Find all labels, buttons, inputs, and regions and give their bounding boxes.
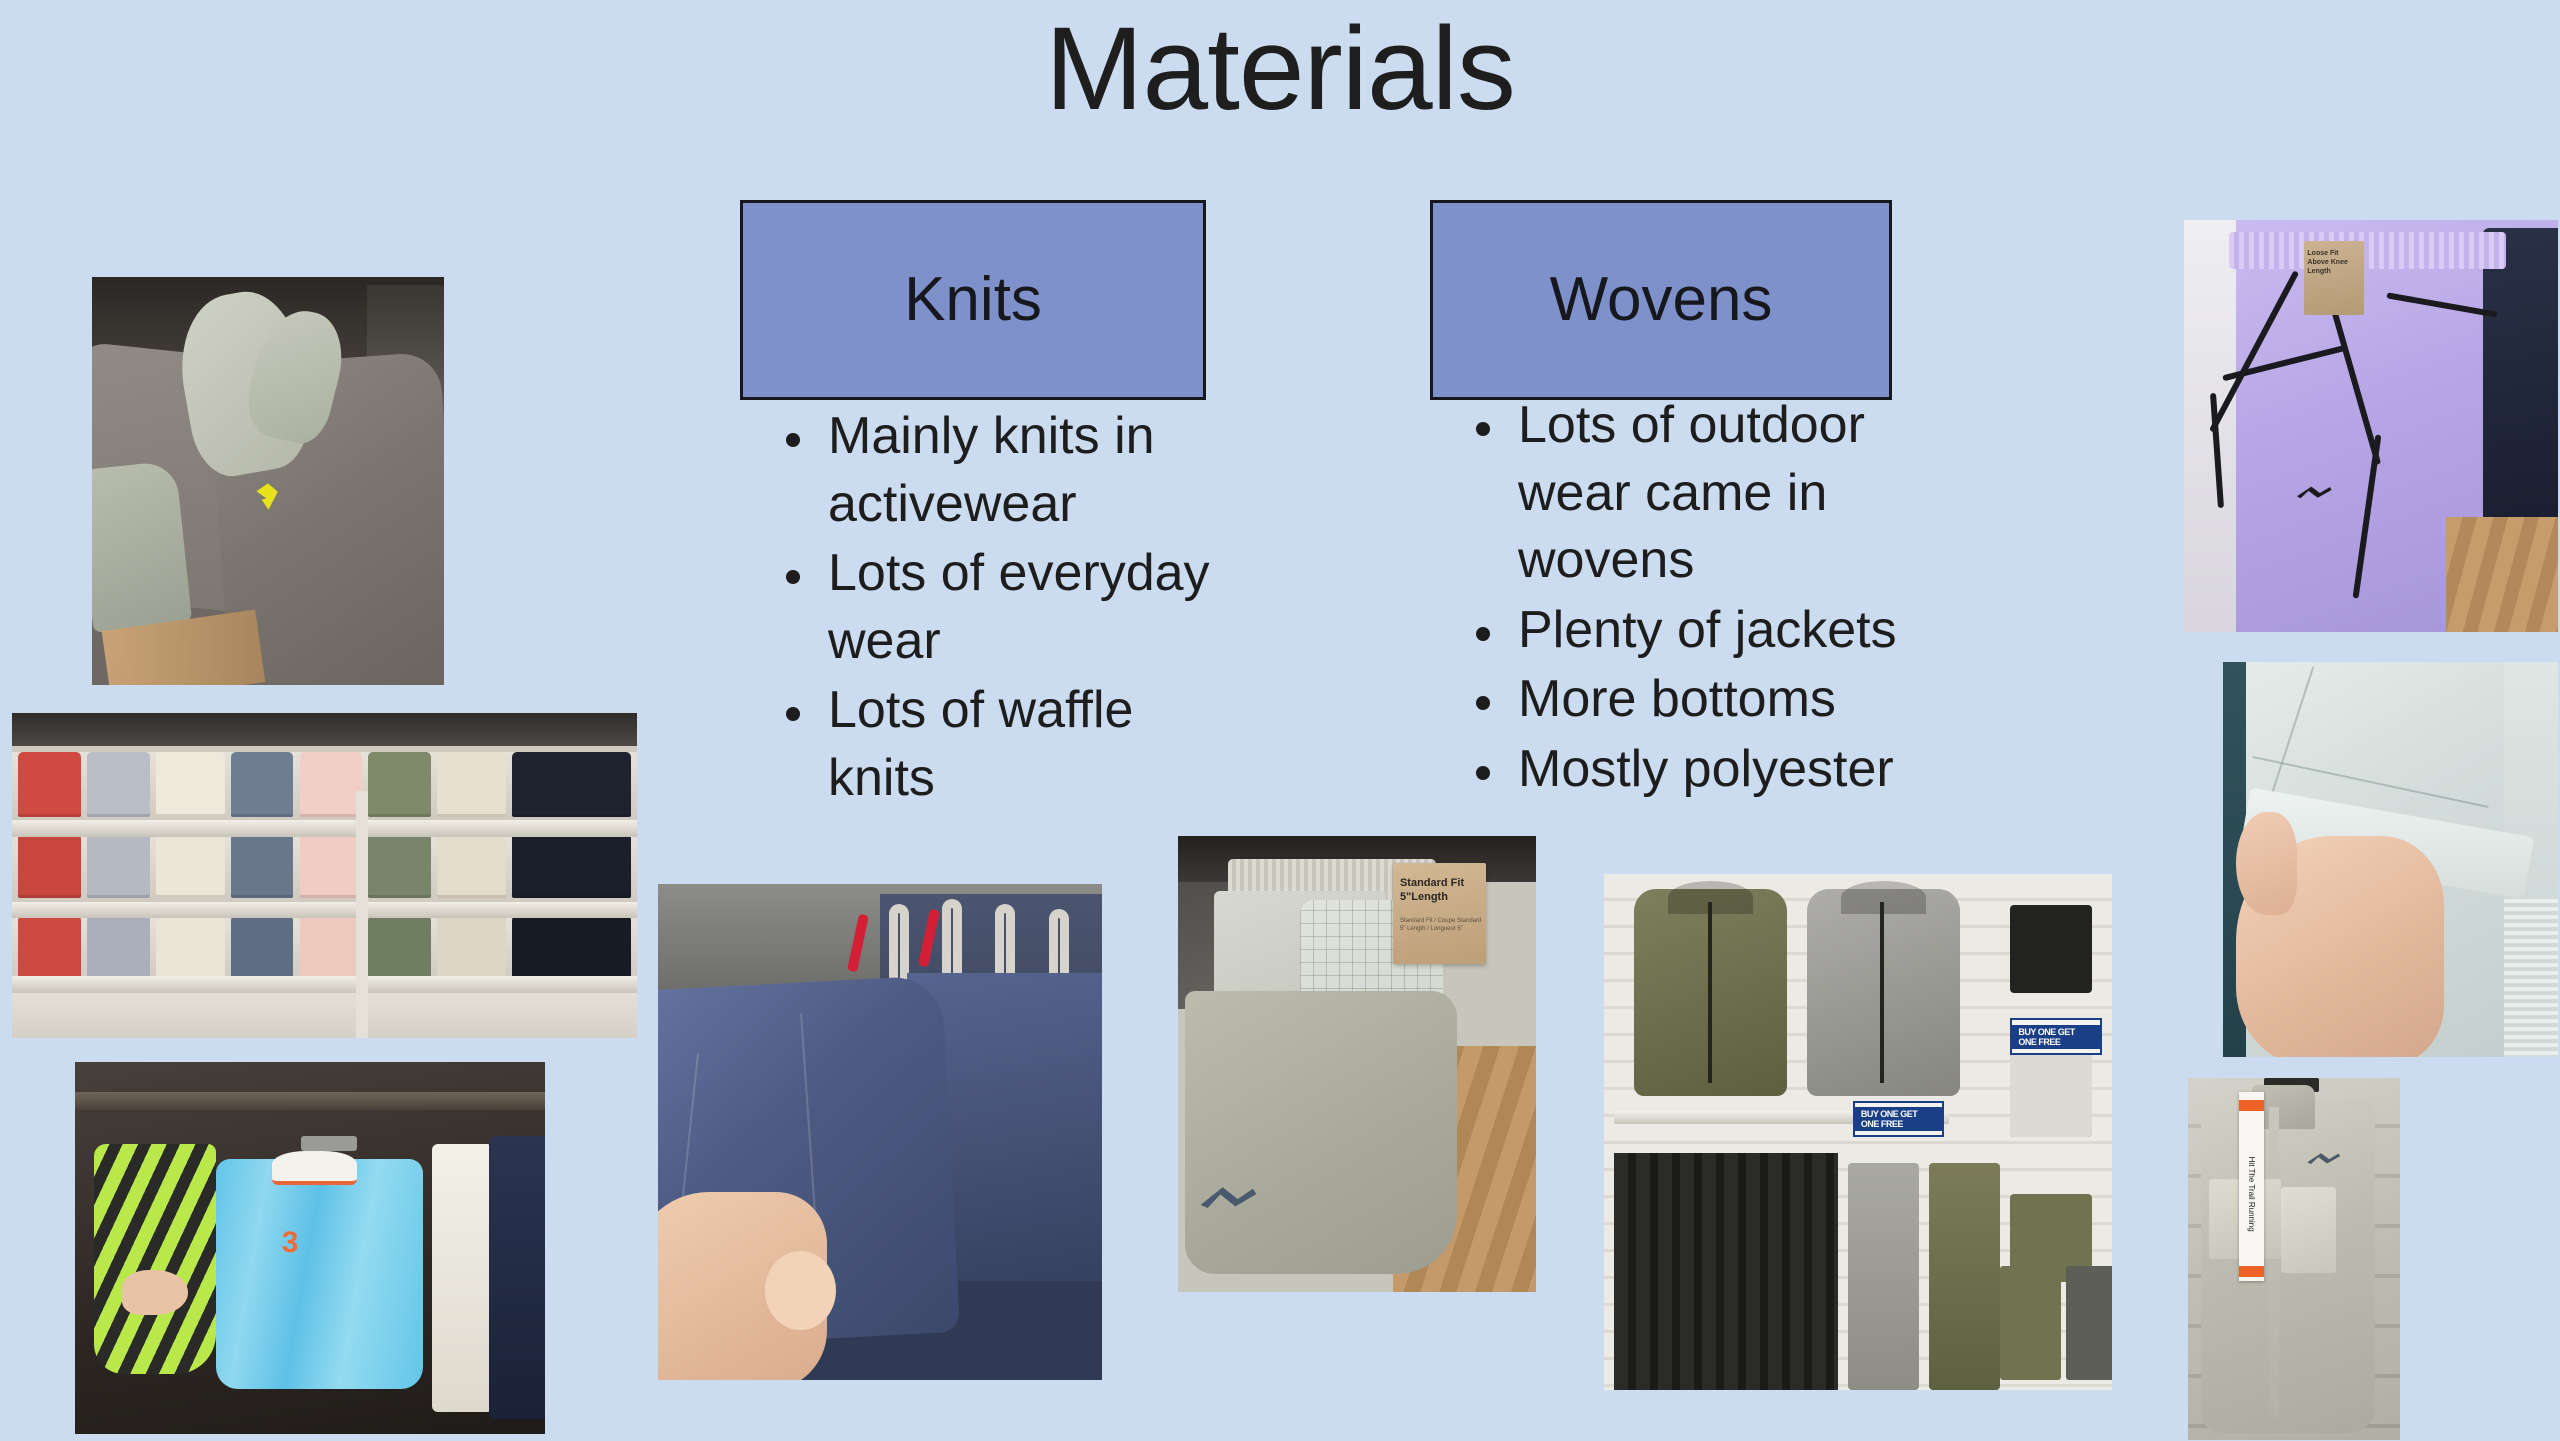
list-item: Lots of everyday wear — [760, 540, 1230, 675]
category-box-wovens[interactable]: Wovens — [1430, 200, 1892, 400]
photo-gray-shorts[interactable]: Standard Fit 5"Length Standard Fit / Cou… — [1178, 836, 1536, 1292]
category-label-wovens: Wovens — [1550, 269, 1773, 331]
category-label-knits: Knits — [904, 269, 1042, 331]
bullet-list-wovens: Lots of outdoor wear came in wovens Plen… — [1450, 392, 1920, 806]
list-item: Lots of outdoor wear came in wovens — [1450, 392, 1920, 595]
hangtag-fit-text: Standard Fit 5"Length — [1400, 877, 1486, 905]
list-item: Plenty of jackets — [1450, 597, 1920, 665]
photo-jacket-wall[interactable]: BUY ONE GET ONE FREE BUY ONE GET ONE FRE… — [1604, 874, 2112, 1390]
photo-navy-knit[interactable] — [658, 884, 1102, 1380]
hangtag-subtext: Standard Fit / Coupe Standard 5" Length … — [1400, 918, 1482, 934]
hangtag-fit-text: Loose Fit Above Knee Length — [2307, 249, 2363, 276]
promo-sign: BUY ONE GET ONE FREE — [2010, 1018, 2101, 1054]
photo-blue-jersey[interactable]: 3 — [75, 1062, 545, 1434]
photo-tee-shelves[interactable] — [12, 713, 637, 1038]
bullet-list-knits: Mainly knits in activewear Lots of every… — [760, 403, 1230, 815]
photo-trail-shirt[interactable]: Hit The Trail Running — [2188, 1078, 2400, 1440]
page-title: Materials — [0, 6, 2560, 133]
jersey-number: 3 — [282, 1226, 299, 1260]
list-item: Mainly knits in activewear — [760, 403, 1230, 538]
photo-lavender-shorts[interactable]: Loose Fit Above Knee Length — [2184, 220, 2558, 632]
slide-canvas: Materials Knits Mainly knits in activewe… — [0, 0, 2560, 1441]
list-item: More bottoms — [1450, 666, 1920, 734]
photo-gray-hoodie[interactable] — [92, 277, 444, 685]
promo-sign: BUY ONE GET ONE FREE — [1853, 1101, 1944, 1137]
product-tag-text: Hit The Trail Running — [2188, 1181, 2317, 1206]
list-item: Mostly polyester — [1450, 736, 1920, 804]
list-item: Lots of waffle knits — [760, 677, 1230, 812]
photo-hand-fabric[interactable] — [2223, 662, 2558, 1057]
category-box-knits[interactable]: Knits — [740, 200, 1206, 400]
